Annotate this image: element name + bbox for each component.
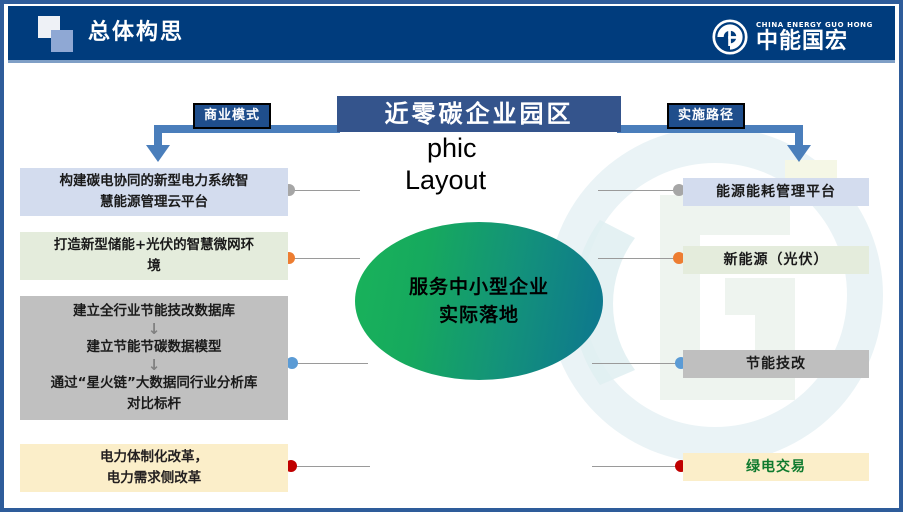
left-item-4-line-1: 电力体制化改革， [100, 447, 208, 468]
page-title: 总体构思 [88, 18, 184, 48]
elbow-down-arrow-right-icon [617, 124, 817, 164]
center-ellipse-line-1: 服务中小型企业 [409, 273, 549, 301]
right-item-1-label: 能源能耗管理平台 [716, 184, 836, 200]
down-arrow-icon: ↓ [148, 323, 161, 336]
left-item-3-line-2: 建立节能节碳数据模型 [87, 337, 222, 358]
left-item-energy-saving-database[interactable]: 建立全行业节能技改数据库 ↓ 建立节能节碳数据模型 ↓ 通过“星火链”大数据同行… [20, 296, 288, 420]
company-name-chinese: 中能国宏 [756, 31, 873, 53]
left-item-smart-energy-cloud-platform[interactable]: 构建碳电协同的新型电力系统智 慧能源管理云平台 [20, 168, 288, 216]
connector-line-left-1 [288, 190, 360, 191]
left-item-3-line-1: 建立全行业节能技改数据库 [73, 301, 235, 322]
leftover-placeholder-text: phic Layout [405, 132, 625, 196]
elbow-down-arrow-left-icon [140, 124, 340, 164]
connector-line-left-4 [288, 466, 370, 467]
slide-canvas: 总体构思 CHINA ENERGY GUO HONG 中能国宏 商业模式 近零碳 [0, 0, 903, 512]
left-item-power-market-reform[interactable]: 电力体制化改革， 电力需求侧改革 [20, 444, 288, 492]
left-item-storage-pv-microgrid[interactable]: 打造新型储能+光伏的智慧微网环 境 [20, 232, 288, 280]
left-item-2-line-1: 打造新型储能+光伏的智慧微网环 [54, 235, 254, 256]
left-item-4-line-2: 电力需求侧改革 [107, 468, 202, 489]
two-squares-logo-icon [38, 16, 78, 54]
right-item-3-label: 节能技改 [746, 356, 806, 372]
right-item-4-label: 绿电交易 [746, 459, 806, 475]
left-item-1-line-1: 构建碳电协同的新型电力系统智 [60, 171, 249, 192]
leftover-line-2: Layout [405, 164, 625, 196]
china-energy-guohong-circle-icon [712, 19, 748, 55]
center-ellipse-line-2: 实际落地 [409, 301, 549, 329]
right-item-2-label: 新能源（光伏） [724, 252, 829, 268]
diagram-main-title: 近零碳企业园区 [337, 96, 621, 132]
connector-line-left-2 [288, 258, 360, 259]
center-goal-ellipse: 服务中小型企业 实际落地 [355, 222, 603, 380]
left-item-3-line-4: 对比标杆 [127, 394, 181, 415]
company-name-english: CHINA ENERGY GUO HONG [756, 22, 873, 29]
down-arrow-icon: ↓ [148, 359, 161, 372]
right-item-energy-consumption-platform[interactable]: 能源能耗管理平台 [683, 178, 869, 206]
right-item-green-power-trading[interactable]: 绿电交易 [683, 453, 869, 481]
company-logo: CHINA ENERGY GUO HONG 中能国宏 [712, 17, 873, 57]
connector-line-left-3 [288, 363, 368, 364]
connector-line-right-4 [592, 466, 684, 467]
tag-business-model[interactable]: 商业模式 [193, 103, 271, 129]
leftover-line-1: phic [405, 132, 625, 164]
left-item-2-line-2: 境 [147, 256, 161, 277]
tag-implementation-path[interactable]: 实施路径 [667, 103, 745, 129]
left-item-1-line-2: 慧能源管理云平台 [100, 192, 208, 213]
slide-header-bar: 总体构思 CHINA ENERGY GUO HONG 中能国宏 [8, 6, 895, 60]
right-item-new-energy-pv[interactable]: 新能源（光伏） [683, 246, 869, 274]
connector-line-right-2 [598, 258, 684, 259]
connector-line-right-3 [592, 363, 684, 364]
right-item-energy-saving-retrofit[interactable]: 节能技改 [683, 350, 869, 378]
header-accent-line [8, 60, 895, 63]
left-item-3-line-3: 通过“星火链”大数据同行业分析库 [51, 373, 258, 394]
